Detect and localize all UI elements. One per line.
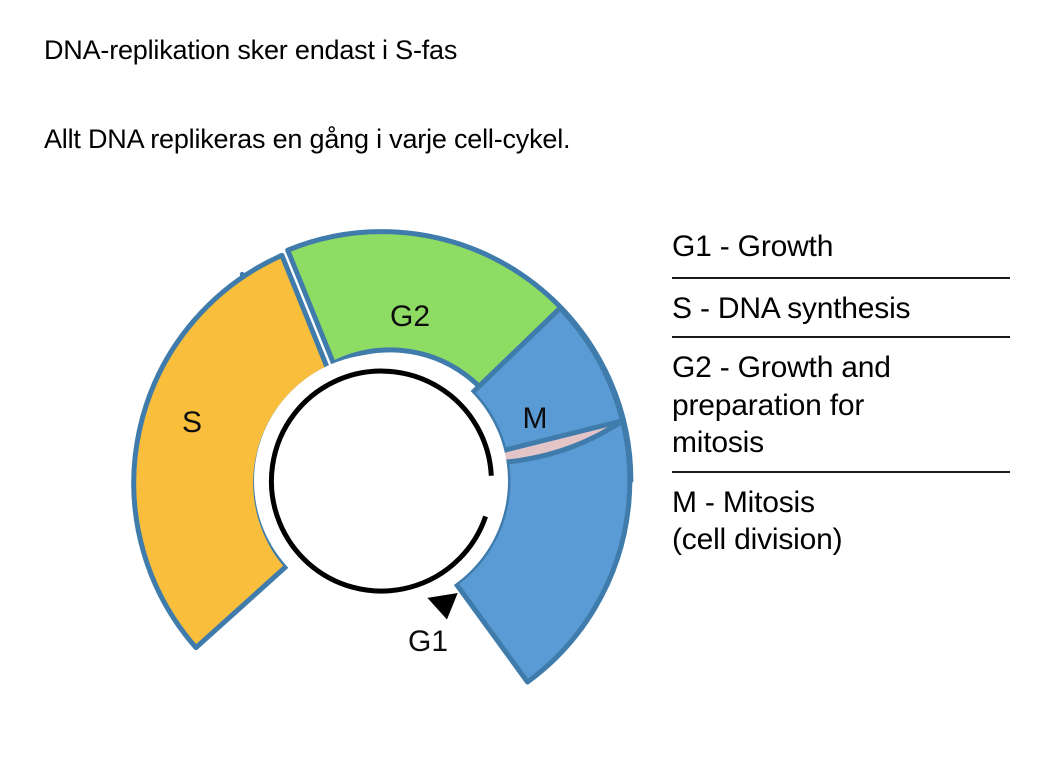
legend-divider-1 bbox=[672, 277, 1010, 279]
legend-text-g2: G2 - Growth and preparation for mitosis bbox=[672, 347, 1018, 462]
cell-cycle-diagram: G2 M S G1 bbox=[110, 210, 655, 755]
legend-row-m: M - Mitosis (cell division) bbox=[672, 482, 1018, 559]
legend-text-g1: G1 - Growth bbox=[672, 228, 1018, 268]
legend-text-s: S - DNA synthesis bbox=[672, 288, 1018, 328]
phase-legend: G1 - Growth S - DNA synthesis G2 - Growt… bbox=[672, 228, 1018, 559]
donut-center-hole bbox=[254, 354, 508, 608]
cell-cycle-donut-chart bbox=[110, 210, 655, 755]
legend-row-g2: G2 - Growth and preparation for mitosis bbox=[672, 347, 1018, 462]
legend-divider-3 bbox=[672, 471, 1010, 473]
legend-divider-2 bbox=[672, 336, 1010, 338]
slide-heading-secondary: Allt DNA replikeras en gång i varje cell… bbox=[44, 124, 570, 155]
legend-text-m: M - Mitosis (cell division) bbox=[672, 482, 1018, 559]
legend-row-s: S - DNA synthesis bbox=[672, 288, 1018, 328]
legend-row-g1: G1 - Growth bbox=[672, 228, 1018, 268]
slide-heading-primary: DNA-replikation sker endast i S-fas bbox=[44, 35, 457, 66]
slide-canvas: DNA-replikation sker endast i S-fas Allt… bbox=[0, 0, 1060, 770]
